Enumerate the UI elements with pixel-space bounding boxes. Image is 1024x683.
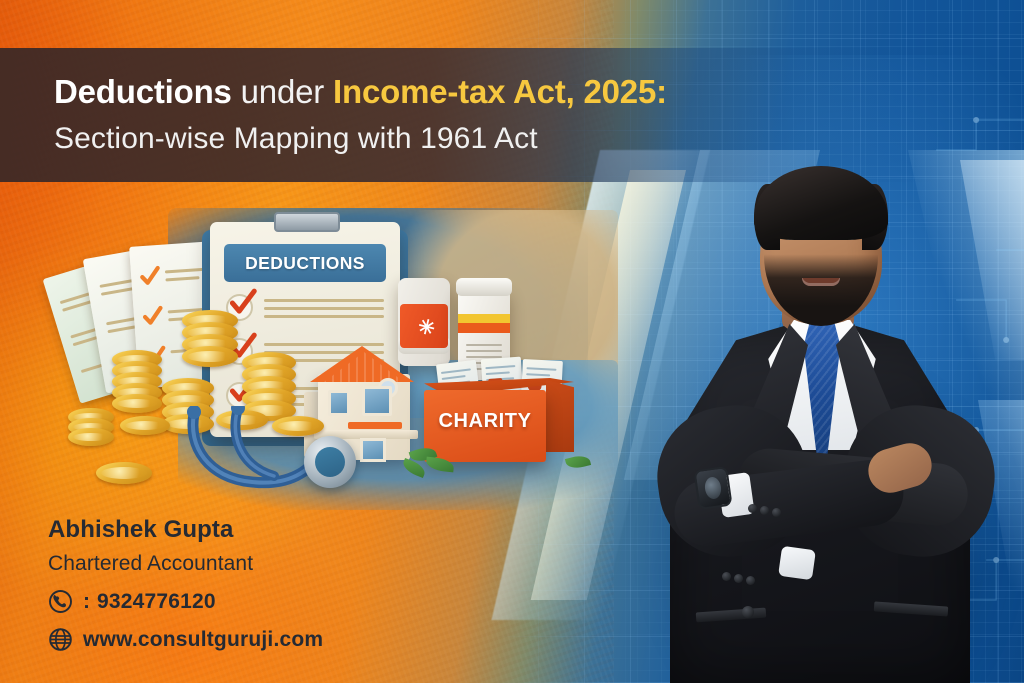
phone-icon: [48, 589, 73, 614]
contact-name: Abhishek Gupta: [48, 516, 518, 544]
clipboard-text-lines: [264, 299, 384, 323]
sleeve-button-icon: [746, 576, 755, 585]
person-mouth: [802, 278, 840, 286]
clipboard-clamp-icon: [274, 212, 340, 232]
wristwatch-icon: [693, 466, 732, 510]
bottle-stripe: [458, 314, 510, 323]
sleeve-button-icon: [722, 572, 731, 581]
banner-title-emphasis: Deductions: [54, 73, 232, 110]
contact-website-row[interactable]: www.consultguruji.com: [48, 627, 518, 652]
banner-title-line-1: Deductions under Income-tax Act, 2025:: [54, 73, 1024, 111]
bottle-stripe: [458, 323, 510, 333]
gold-coin-icon: [182, 346, 238, 367]
charity-box-icon: CHARITY: [424, 376, 574, 462]
gold-coin-icon: [68, 428, 114, 446]
jacket-button-icon: [742, 606, 754, 618]
contact-phone-number: 9324776120: [97, 590, 216, 614]
clipboard-title-text: DEDUCTIONS: [245, 253, 365, 274]
deductions-illustration: DEDUCTIONS: [58, 210, 618, 510]
contact-website-url: www.consultguruji.com: [83, 628, 323, 652]
sleeve-button-icon: [748, 504, 757, 513]
clipboard-title-banner: DEDUCTIONS: [224, 244, 386, 282]
banner-title-accent: Income-tax Act, 2025:: [333, 73, 667, 110]
clipboard-check-row: [226, 294, 386, 324]
promotional-banner-image: Deductions under Income-tax Act, 2025: S…: [0, 0, 1024, 683]
contact-phone-row[interactable]: : 9324776120: [48, 589, 518, 614]
bottle-cap-icon: [456, 278, 512, 296]
gold-coin-icon: [112, 394, 162, 413]
globe-icon: [48, 627, 73, 652]
person-hair: [754, 166, 888, 240]
charity-box-side: [546, 380, 574, 452]
sleeve-button-icon: [734, 574, 743, 583]
stethoscope-chestpiece-icon: [304, 436, 356, 488]
person-photo: [630, 174, 1024, 683]
contact-phone-separator: :: [83, 590, 90, 614]
gold-coin-icon: [120, 416, 170, 435]
checkmark-icon: [141, 305, 164, 328]
gold-coin-icon: [96, 462, 152, 484]
banner-subtitle: Section-wise Mapping with 1961 Act: [54, 122, 1024, 157]
stethoscope-tubing: [178, 406, 408, 506]
checkmark-icon: [139, 265, 162, 288]
title-banner: Deductions under Income-tax Act, 2025: S…: [0, 48, 1024, 182]
stethoscope-icon: [178, 406, 398, 496]
sleeve-button-icon: [772, 508, 781, 517]
charity-box-label: CHARITY: [424, 410, 546, 433]
person-shirt-cuff: [778, 546, 816, 580]
contact-role: Chartered Accountant: [48, 552, 518, 576]
sleeve-button-icon: [760, 506, 769, 515]
banner-title-connector: under: [241, 73, 324, 110]
contact-block: Abhishek Gupta Chartered Accountant : 93…: [48, 516, 518, 652]
